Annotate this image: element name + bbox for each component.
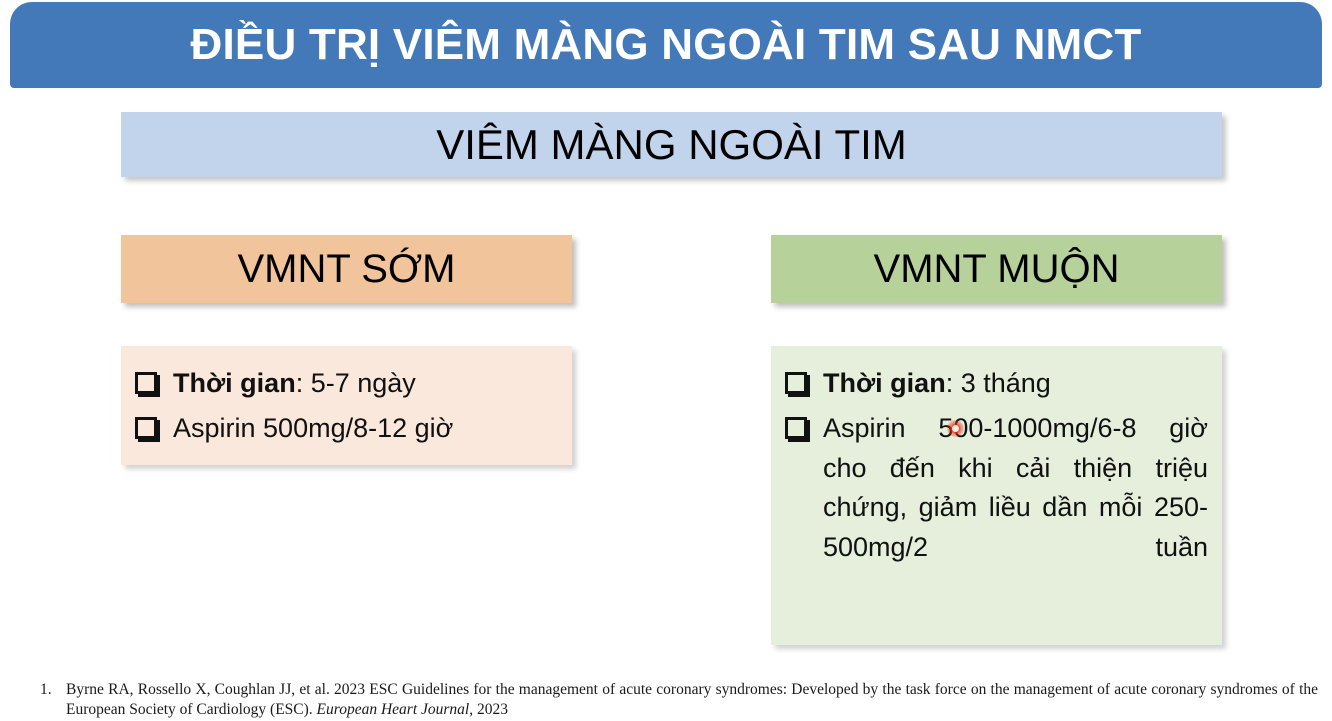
list-item-text: Aspirin 500-1000mg/6-8 giờ cho đến khi c…	[823, 409, 1208, 606]
list-item: Aspirin 500mg/8-12 giờ	[135, 409, 558, 448]
subheader-box: VIÊM MÀNG NGOÀI TIM	[121, 112, 1222, 177]
column-header-late-label: VMNT MUỘN	[874, 249, 1120, 289]
list-item-text: Thời gian: 5-7 ngày	[173, 364, 558, 403]
list-item-value: Aspirin 500mg/8-12 giờ	[173, 413, 453, 443]
checkbox-bullet-icon	[785, 372, 807, 394]
list-item-text: Thời gian: 3 tháng	[823, 364, 1208, 403]
list-item: Thời gian: 5-7 ngày	[135, 364, 558, 403]
list-item-value: 3 tháng	[961, 368, 1051, 398]
footnote-text: Byrne RA, Rossello X, Coughlan JJ, et al…	[66, 680, 1318, 721]
footnote-journal-name: European Heart Journal	[317, 701, 470, 718]
footnote-text-main: Byrne RA, Rossello X, Coughlan JJ, et al…	[66, 681, 1318, 718]
column-body-early: Thời gian: 5-7 ngày Aspirin 500mg/8-12 g…	[121, 346, 572, 465]
list-item-separator: :	[946, 368, 961, 398]
column-early-pericarditis: VMNT SỚM Thời gian: 5-7 ngày Aspirin 500…	[121, 235, 572, 303]
slide-title-banner: ĐIỀU TRỊ VIÊM MÀNG NGOÀI TIM SAU NMCT	[10, 2, 1322, 88]
checkbox-bullet-icon	[135, 372, 157, 394]
list-item-label: Thời gian	[823, 368, 946, 398]
footnote-citation: 1. Byrne RA, Rossello X, Coughlan JJ, et…	[40, 680, 1318, 721]
column-header-late: VMNT MUỘN	[771, 235, 1222, 303]
checkbox-bullet-icon	[135, 417, 157, 439]
column-header-early: VMNT SỚM	[121, 235, 572, 303]
page-title: ĐIỀU TRỊ VIÊM MÀNG NGOÀI TIM SAU NMCT	[191, 23, 1142, 67]
list-item: Aspirin 500-1000mg/6-8 giờ cho đến khi c…	[785, 409, 1208, 606]
column-header-early-label: VMNT SỚM	[237, 249, 455, 289]
checkbox-bullet-icon	[785, 417, 807, 439]
list-item: Thời gian: 3 tháng	[785, 364, 1208, 403]
list-item-separator: :	[296, 368, 311, 398]
column-body-late: Thời gian: 3 tháng Aspirin 500-1000mg/6-…	[771, 346, 1222, 645]
footnote-number: 1.	[40, 680, 66, 700]
list-item-label: Thời gian	[173, 368, 296, 398]
list-item-value: 5-7 ngày	[311, 368, 416, 398]
subheader-label: VIÊM MÀNG NGOÀI TIM	[436, 124, 907, 166]
footnote-text-tail: , 2023	[469, 701, 508, 718]
list-item-text: Aspirin 500mg/8-12 giờ	[173, 409, 558, 448]
column-late-pericarditis: VMNT MUỘN Thời gian: 3 tháng Aspirin 500…	[771, 235, 1222, 303]
